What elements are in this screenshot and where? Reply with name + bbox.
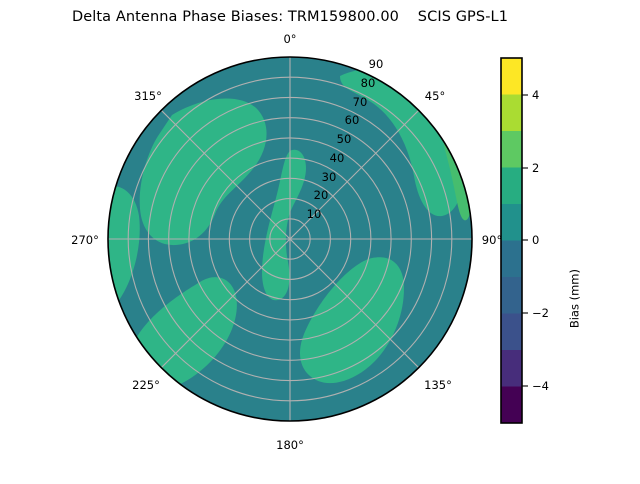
- theta-tick-45: 45°: [425, 89, 445, 103]
- r-tick-80: 80: [361, 76, 376, 90]
- r-tick-10: 10: [307, 207, 322, 221]
- r-tick-20: 20: [314, 188, 329, 202]
- polar-grid-group: [108, 57, 472, 421]
- cbar-tick-label-4: 4: [532, 88, 539, 102]
- cbar-tick-label-neg4: −4: [532, 379, 549, 393]
- theta-tick-270: 270°: [71, 233, 99, 247]
- colorbar-bands: [501, 58, 522, 423]
- colorbar-ticks-group: [522, 95, 528, 386]
- theta-tick-90: 90°: [482, 233, 502, 247]
- cbar-band-neg1-0: [501, 241, 522, 278]
- cbar-band-neg5-neg4: [501, 387, 522, 424]
- r-tick-70: 70: [353, 95, 368, 109]
- cbar-tick-label-0: 0: [532, 233, 539, 247]
- cbar-band-neg4-neg3: [501, 350, 522, 387]
- theta-tick-180: 180°: [276, 438, 304, 452]
- r-tick-30: 30: [322, 170, 337, 184]
- theta-tick-315: 315°: [134, 89, 162, 103]
- colorbar-title: Bias (mm): [568, 269, 582, 328]
- theta-tick-225: 225°: [132, 378, 160, 392]
- cbar-band-neg3-neg2: [501, 314, 522, 351]
- r-tick-90: 90: [369, 57, 384, 71]
- cbar-band-4-5: [501, 58, 522, 95]
- cbar-band-1-2: [501, 168, 522, 205]
- cbar-band-2-3: [501, 131, 522, 168]
- cbar-band-3-4: [501, 95, 522, 132]
- cbar-band-neg2-neg1: [501, 277, 522, 314]
- r-tick-40: 40: [330, 151, 345, 165]
- cbar-band-0-1: [501, 204, 522, 241]
- figure-canvas: Delta Antenna Phase Biases: TRM159800.00…: [0, 0, 640, 480]
- r-tick-60: 60: [345, 113, 360, 127]
- cbar-tick-label-neg2: −2: [532, 306, 549, 320]
- polar-plot: 0° 45° 90° 135° 180° 225° 270° 315° 10 2…: [0, 0, 640, 480]
- r-tick-50: 50: [337, 132, 352, 146]
- cbar-tick-label-2: 2: [532, 161, 539, 175]
- theta-tick-0: 0°: [283, 32, 296, 46]
- theta-tick-135: 135°: [424, 378, 452, 392]
